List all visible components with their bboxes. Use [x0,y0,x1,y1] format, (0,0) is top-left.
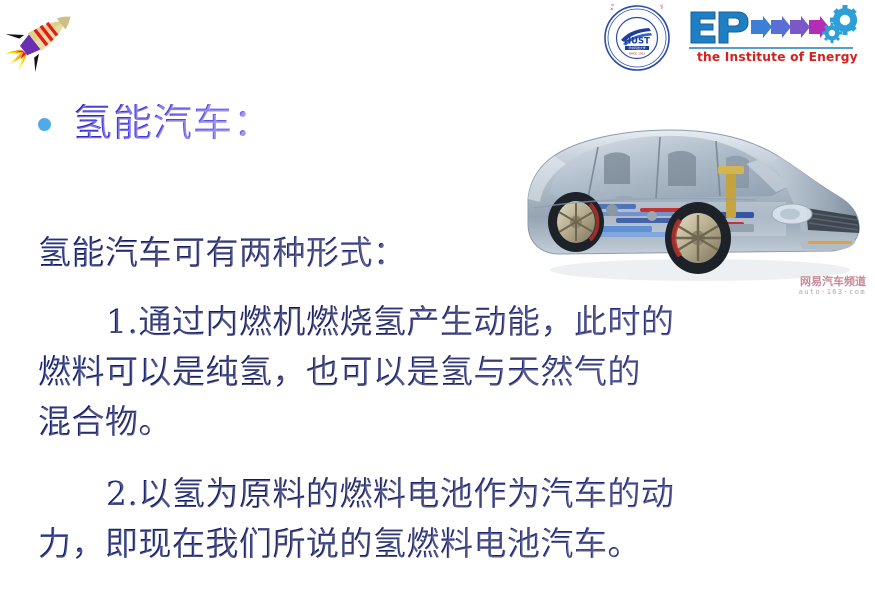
slide-heading: 氢能汽车： [38,104,273,145]
svg-text:华中科技大学: 华中科技大学 [628,45,645,50]
rocket-icon-svg [6,4,80,72]
watermark-sub-text: auto·163·com [799,289,866,296]
paragraph-1-line-1-text: 1.通过内燃机燃烧氢产生动能，此时的 [106,302,675,341]
hust-university-seal-logo: 华中科技大学 HUAZHONG UNIVERSITY OF SCIENCE AN… [601,4,673,72]
paragraph-2-line-1-text: 2.以氢为原料的燃料电池作为汽车的动 [106,474,675,513]
institute-tagline: the Institute of Energy & Power [697,50,857,64]
svg-text:SINCE 1953: SINCE 1953 [629,52,646,56]
hydrogen-car-illustration [520,104,870,300]
paragraph-1-line-2: 燃料可以是纯氢，也可以是氢与天然气的 [38,355,641,388]
image-watermark: 网易汽车频道 auto·163·com [799,276,866,296]
bullet-point-icon [38,118,51,131]
hydrogen-car-figure: 网易汽车频道 auto·163·com [520,104,870,300]
institute-logo: the Institute of Energy & Power [685,4,857,68]
paragraph-2-line-1: 2.以氢为原料的燃料电池作为汽车的动 [38,477,675,510]
logo-bar: 华中科技大学 HUAZHONG UNIVERSITY OF SCIENCE AN… [601,4,857,70]
paragraph-2-line-2: 力，即现在我们所说的氢燃料电池汽车。 [38,527,641,560]
paragraph-1-line-1: 1.通过内燃机燃烧氢产生动能，此时的 [38,305,675,338]
institute-logo-svg: the Institute of Energy & Power [685,4,857,68]
intro-line: 氢能汽车可有两种形式： [38,236,407,269]
presentation-slide: 华中科技大学 HUAZHONG UNIVERSITY OF SCIENCE AN… [0,0,875,615]
paragraph-1-line-3: 混合物。 [38,405,172,438]
watermark-main-text: 网易汽车频道 [799,276,866,287]
svg-text:HUST: HUST [624,37,650,47]
rocket-icon [6,4,80,72]
heading-text: 氢能汽车： [73,104,273,145]
